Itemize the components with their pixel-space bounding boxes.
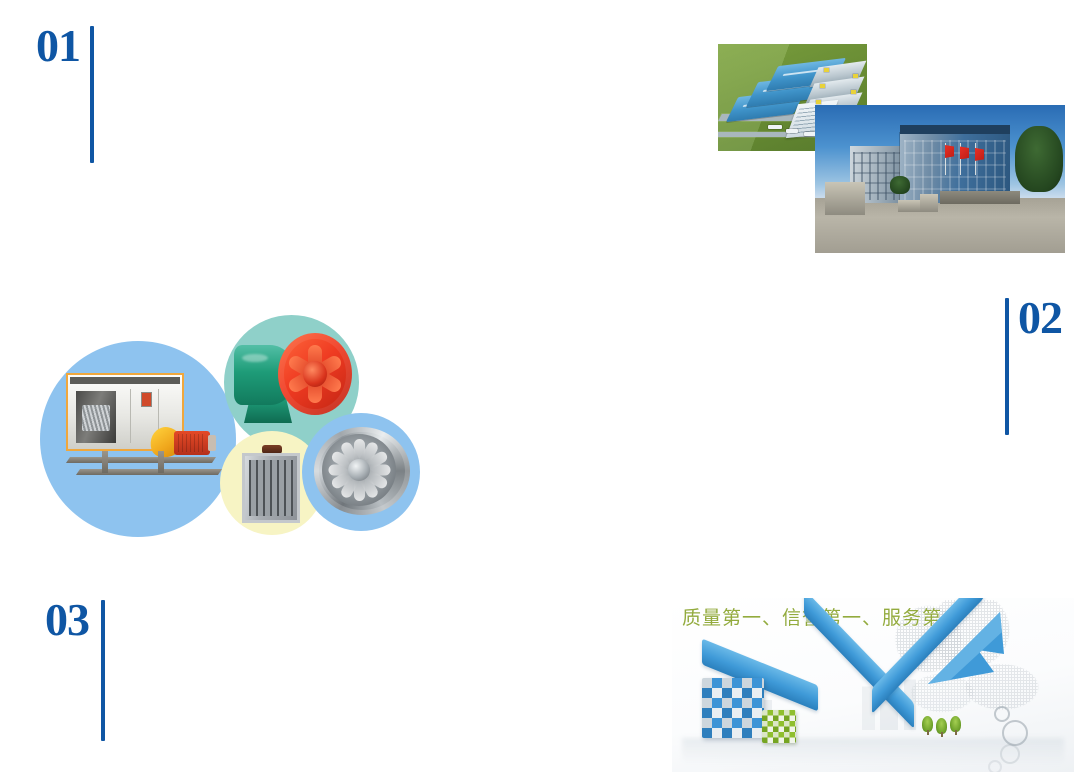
product-air-damper-filter-box	[242, 445, 304, 525]
red-flag-2	[960, 146, 969, 159]
shrub-center	[890, 176, 910, 194]
decorative-tree-1	[922, 716, 933, 732]
product-axial-flow-fan	[232, 327, 354, 439]
forecourt-wall	[940, 191, 1020, 204]
factory-truck-1	[768, 125, 782, 129]
section-number-03: 03	[45, 598, 89, 642]
section-number-02: 02	[1018, 296, 1062, 340]
red-flag-3	[975, 148, 984, 161]
product-cluster	[34, 315, 424, 555]
factory-marker-a	[824, 68, 829, 72]
box-fan-inlet-opening	[76, 391, 116, 443]
decorative-tree-3	[950, 716, 961, 732]
blue-cube-cluster	[702, 678, 764, 738]
box-fan-base-rail-1	[66, 457, 216, 463]
box-fan-cabinet-top	[70, 377, 180, 384]
metal-fan-outer-shell	[314, 427, 410, 515]
box-fan-base-strut-1	[102, 451, 108, 473]
axial-fan-hub	[303, 361, 327, 387]
factory-marker-b	[820, 84, 825, 88]
box-fan-electric-motor	[174, 431, 210, 455]
box-fan-base-rail-2	[76, 469, 222, 475]
office-building-image	[815, 105, 1065, 253]
product-box-type-centrifugal-fan-unit	[62, 365, 222, 495]
box-fan-panel-seam-1	[130, 389, 131, 443]
box-fan-motor-endcap	[208, 435, 216, 451]
decorative-ring-small	[994, 706, 1010, 722]
arrow-head	[908, 610, 1018, 696]
product-stainless-axial-fan	[314, 427, 414, 519]
factory-marker-c	[816, 100, 821, 104]
factory-marker-e	[851, 90, 856, 94]
gate-kiosk	[825, 182, 865, 215]
damper-louver-frame	[242, 453, 300, 523]
box-fan-base-strut-2	[158, 451, 164, 473]
factory-truck-2	[786, 129, 798, 133]
section-marker-02: 02	[1005, 296, 1062, 435]
decorative-ring-tiny	[988, 760, 1002, 772]
decorative-ring-large	[1002, 720, 1028, 746]
metal-fan-hub	[348, 459, 370, 481]
metal-fan-impeller	[322, 434, 396, 506]
decorative-ring-medium	[1000, 744, 1020, 764]
slide-canvas: 01	[0, 0, 1074, 772]
section-rule-01	[90, 26, 94, 163]
growth-banner-image: 质量第一、信誉第一、服务第一	[672, 598, 1074, 772]
section-marker-01: 01	[36, 24, 94, 163]
decorative-tree-2	[936, 718, 947, 734]
section-marker-03: 03	[45, 598, 105, 741]
axial-fan-red-impeller-ring	[278, 333, 352, 415]
section-number-01: 01	[36, 24, 80, 68]
conifer-tree-right	[1015, 126, 1063, 192]
red-flag-1	[945, 145, 954, 158]
box-fan-control-switch	[142, 393, 151, 406]
factory-marker-d	[853, 74, 858, 78]
green-cube-cluster	[762, 710, 796, 743]
section-rule-02	[1005, 298, 1009, 435]
gate-pillar	[920, 194, 938, 212]
section-rule-03	[101, 600, 105, 741]
parked-vehicle	[898, 200, 921, 212]
